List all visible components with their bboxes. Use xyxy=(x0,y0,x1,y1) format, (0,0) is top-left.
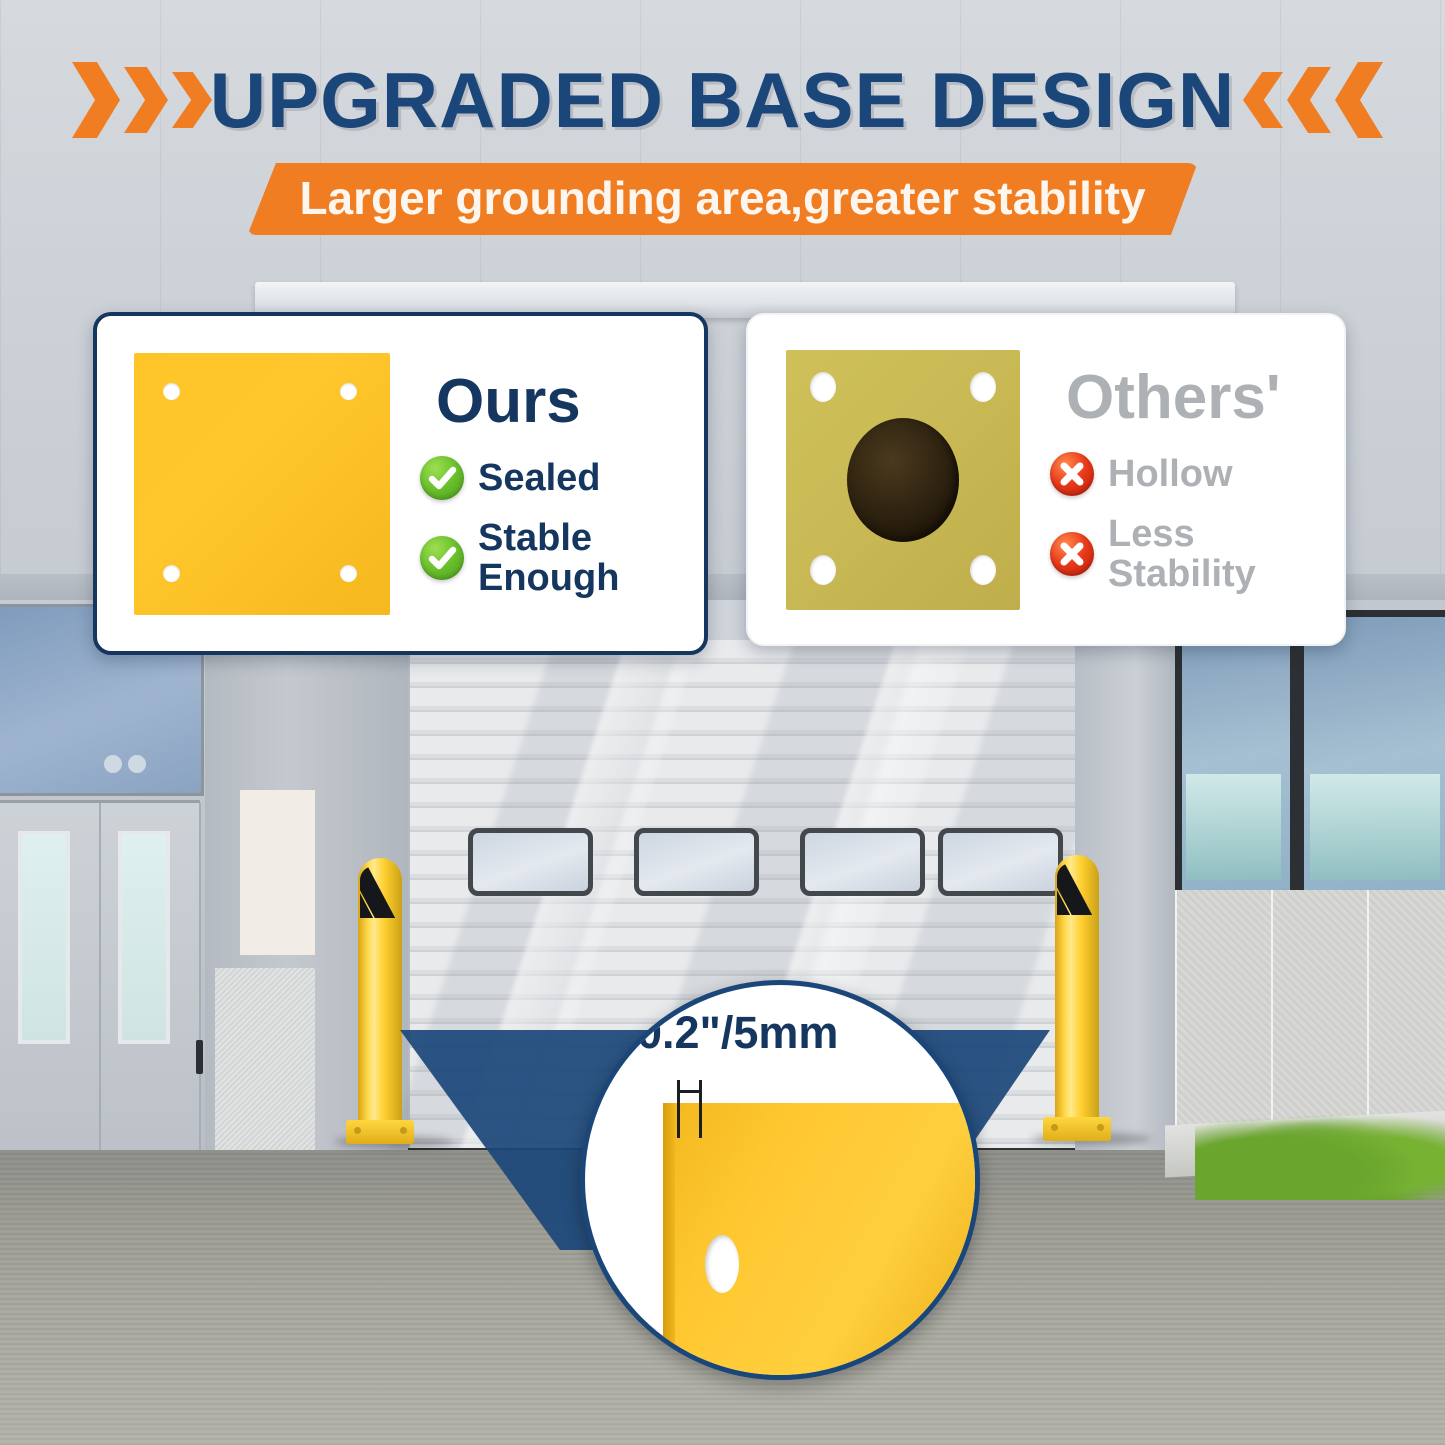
subtitle-banner-wrap: Larger grounding area,greater stability xyxy=(0,163,1445,235)
others-feature-label: Less Stability xyxy=(1108,514,1330,594)
door-leaf-right xyxy=(100,803,201,1163)
caliper-bracket-icon xyxy=(677,1080,707,1138)
door-glass-lite xyxy=(118,831,170,1044)
wall-grit-patch xyxy=(215,968,315,1158)
others-card-body: Others' Hollow Less Stability xyxy=(1020,366,1344,594)
others-feature-item: Less Stability xyxy=(1050,514,1330,594)
ours-feature-label: Sealed xyxy=(478,458,601,498)
product-infographic: UPGRADED BASE DESIGN Larger grounding ar… xyxy=(0,0,1445,1445)
comparison-card-ours: Ours Sealed Stable Enough xyxy=(93,312,708,655)
others-feature-label: Hollow xyxy=(1108,454,1233,494)
door-glass-lite xyxy=(18,831,70,1044)
others-feature-item: Hollow xyxy=(1050,452,1330,496)
ours-feature-item: Stable Enough xyxy=(420,518,690,598)
bollard-base-plate xyxy=(346,1120,414,1144)
door-window xyxy=(800,828,925,896)
ours-plate-image xyxy=(97,353,390,615)
header-banner: UPGRADED BASE DESIGN Larger grounding ar… xyxy=(0,0,1445,240)
check-circle-icon xyxy=(420,536,464,580)
page-title: UPGRADED BASE DESIGN xyxy=(0,58,1445,142)
ours-title: Ours xyxy=(436,370,690,434)
plate-edge-closeup xyxy=(663,1103,980,1380)
door-window xyxy=(468,828,593,896)
comparison-card-others: Others' Hollow Less Stability xyxy=(746,313,1346,646)
hollow-base-plate-graphic xyxy=(786,350,1020,610)
door-leaf-left xyxy=(0,803,101,1163)
solid-base-plate-graphic xyxy=(134,353,390,615)
door-window xyxy=(938,828,1063,896)
thickness-zoom-callout: 0.2"/5mm xyxy=(580,980,980,1380)
right-window-pane xyxy=(1297,610,1445,904)
hazard-stripe-icon xyxy=(1057,863,1097,915)
entry-double-door xyxy=(0,800,200,1163)
right-window-pane xyxy=(1175,610,1297,904)
bollard-base-plate xyxy=(1043,1117,1111,1141)
x-circle-icon xyxy=(1050,532,1094,576)
others-plate-image xyxy=(748,350,1020,610)
hazard-stripe-icon xyxy=(360,866,400,918)
ours-feature-item: Sealed xyxy=(420,456,690,500)
ours-feature-label: Stable Enough xyxy=(478,518,690,598)
door-window xyxy=(634,828,759,896)
check-circle-icon xyxy=(420,456,464,500)
ours-card-body: Ours Sealed Stable Enough xyxy=(390,370,704,598)
subtitle-text: Larger grounding area,greater stability xyxy=(299,172,1145,224)
others-title: Others' xyxy=(1066,366,1330,430)
subtitle-banner: Larger grounding area,greater stability xyxy=(247,163,1197,235)
thickness-measurement-label: 0.2"/5mm xyxy=(637,1009,838,1057)
center-bore-hole xyxy=(847,418,959,542)
plate-thickness-edge xyxy=(663,1103,675,1380)
wall-placard xyxy=(240,790,315,955)
x-circle-icon xyxy=(1050,452,1094,496)
grass-patch xyxy=(1195,1108,1445,1200)
door-handle-icon xyxy=(196,1040,203,1074)
